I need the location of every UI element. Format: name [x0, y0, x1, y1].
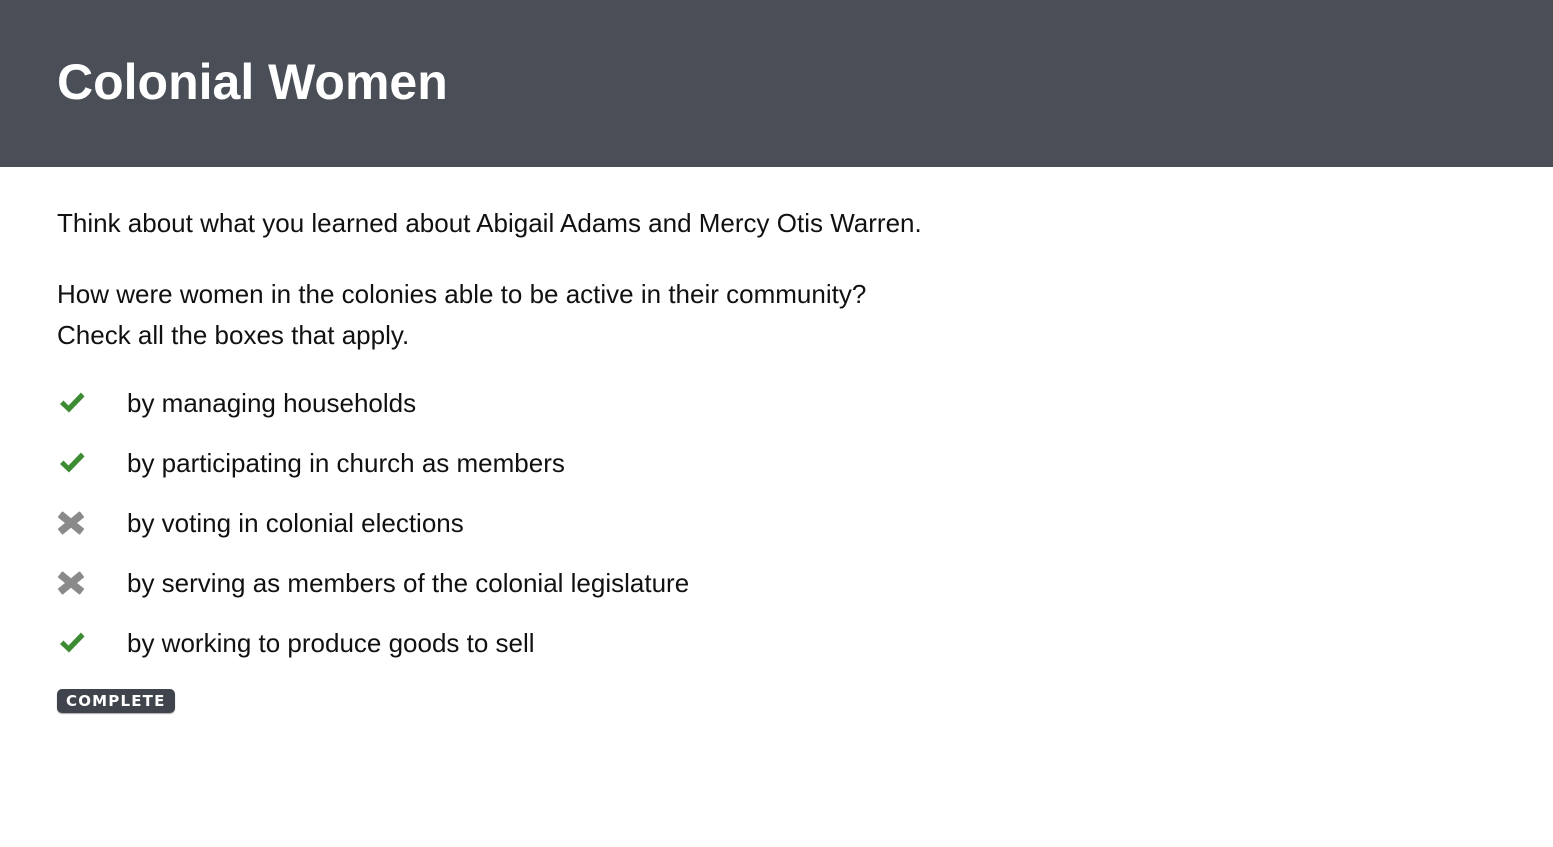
page-header: Colonial Women	[0, 0, 1553, 167]
answer-label: by serving as members of the colonial le…	[127, 568, 689, 598]
answer-label: by working to produce goods to sell	[127, 628, 535, 658]
answer-row-managing-households[interactable]: by managing households	[57, 373, 1457, 433]
prompt-line-intro: Think about what you learned about Abiga…	[57, 203, 1457, 244]
check-icon	[57, 628, 97, 658]
check-icon	[57, 388, 97, 418]
content-area: Think about what you learned about Abiga…	[0, 167, 1553, 847]
answer-choice-list: by managing households by participating …	[57, 373, 1457, 673]
prompt-spacer	[57, 244, 1457, 274]
status-badge: COMPLETE	[57, 689, 175, 713]
answer-label: by voting in colonial elections	[127, 508, 464, 538]
answer-row-participating-church[interactable]: by participating in church as members	[57, 433, 1457, 493]
cross-icon	[57, 568, 97, 598]
question-prompt: Think about what you learned about Abiga…	[57, 203, 1457, 356]
prompt-line-question: How were women in the colonies able to b…	[57, 274, 1457, 315]
cross-icon	[57, 508, 97, 538]
answer-row-serving-legislature[interactable]: by serving as members of the colonial le…	[57, 553, 1457, 613]
answer-label: by managing households	[127, 388, 416, 418]
answer-row-voting-elections[interactable]: by voting in colonial elections	[57, 493, 1457, 553]
check-icon	[57, 448, 97, 478]
status-badge-label: COMPLETE	[66, 694, 166, 709]
page-title: Colonial Women	[57, 50, 448, 114]
answer-label: by participating in church as members	[127, 448, 565, 478]
answer-row-producing-goods[interactable]: by working to produce goods to sell	[57, 613, 1457, 673]
prompt-line-instruction: Check all the boxes that apply.	[57, 315, 1457, 356]
